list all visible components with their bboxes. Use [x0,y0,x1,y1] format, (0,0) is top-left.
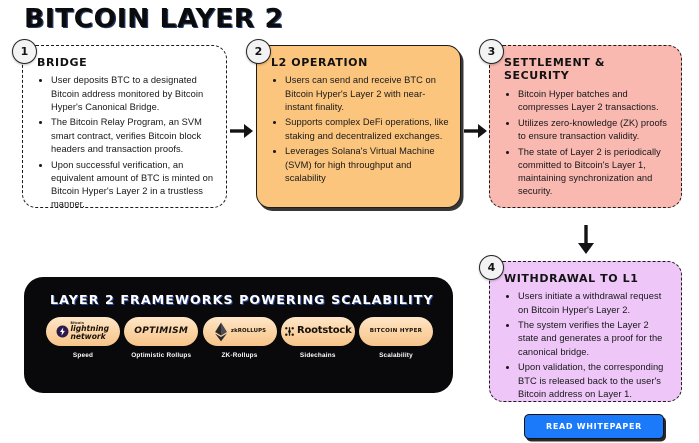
step-card-title: SETTLEMENT & SECURITY [504,56,671,83]
list-item: Upon validation, the corresponding BTC i… [518,361,671,401]
step-card-bridge: BRIDGE User deposits BTC to a designated… [22,45,227,208]
zksync-rollups-logo: zkROLLUPS [231,329,266,335]
step-card-settlement-security: SETTLEMENT & SECURITY Bitcoin Hyper batc… [489,45,682,208]
step-card-bullets: Bitcoin Hyper batches and compresses Lay… [502,88,671,199]
page-title: BITCOIN LAYER 2 [24,4,283,34]
step-card-bullets: User deposits BTC to a designated Bitcoi… [35,74,216,211]
step-badge-number: 4 [488,261,496,274]
framework-logo-pill: Bitcoin lightning network [46,317,120,346]
step-card-bullets: Users initiate a withdrawal request on B… [502,290,671,401]
step-card-title: BRIDGE [37,56,216,69]
list-item: Leverages Solana's Virtual Machine (SVM)… [285,145,450,185]
rootstock-logo: Rootstock [297,326,352,336]
framework-item-optimism[interactable]: OPTIMISM Optimistic Rollups [124,317,198,359]
list-item: Supports complex DeFi operations, like s… [285,116,450,142]
framework-item-zkrollups[interactable]: zkROLLUPS ZK-Rollups [203,317,277,359]
step-badge-3: 3 [479,39,504,64]
framework-caption: Scalability [379,352,413,359]
infographic-canvas: BITCOIN LAYER 2 BRIDGE User deposits BTC… [0,0,699,443]
framework-caption: Speed [73,352,93,359]
list-item: The Bitcoin Relay Program, an SVM smart … [51,116,216,156]
list-item: Utilizes zero-knowledge (ZK) proofs to e… [518,117,671,143]
framework-logo-text: lightning network [71,325,111,340]
ethereum-icon [213,322,229,342]
step-card-bullets: Users can send and receive BTC on Bitcoi… [269,74,450,185]
framework-item-lightning[interactable]: Bitcoin lightning network Speed [46,317,120,359]
list-item: Bitcoin Hyper batches and compresses Lay… [518,88,671,114]
rootstock-mark-icon [284,326,295,337]
step-card-title: WITHDRAWAL TO L1 [504,272,671,285]
step-badge-number: 2 [255,45,263,58]
frameworks-panel: LAYER 2 FRAMEWORKS POWERING SCALABILITY … [24,277,453,393]
bitcoin-hyper-logo: BITCOIN HYPER [370,329,423,335]
list-item: Upon successful verification, an equival… [51,159,216,212]
arrow-step1-to-step2 [229,119,255,148]
framework-item-bitcoin-hyper[interactable]: BITCOIN HYPER Scalability [359,317,433,359]
read-whitepaper-label: READ WHITEPAPER [546,422,642,431]
framework-logo-pill: Rootstock [281,317,355,346]
framework-caption: ZK-Rollups [221,352,257,359]
framework-logo-pill: BITCOIN HYPER [359,317,433,346]
read-whitepaper-button[interactable]: READ WHITEPAPER [524,414,664,439]
step-badge-1: 1 [12,39,37,64]
frameworks-panel-title: LAYER 2 FRAMEWORKS POWERING SCALABILITY [50,292,441,307]
list-item: The system verifies the Layer 2 state an… [518,319,671,359]
optimism-logo: OPTIMISM [134,327,188,336]
list-item: Users can send and receive BTC on Bitcoi… [285,74,450,114]
step-card-l2-operation: L2 OPERATION Users can send and receive … [256,45,461,208]
step-badge-number: 3 [488,45,496,58]
step-card-withdrawal-to-l1: WITHDRAWAL TO L1 Users initiate a withdr… [489,261,682,402]
step-badge-2: 2 [246,39,271,64]
arrow-step3-to-step4 [574,224,598,261]
list-item: User deposits BTC to a designated Bitcoi… [51,74,216,114]
arrow-step2-to-step3 [463,119,489,148]
framework-caption: Sidechains [300,352,336,359]
frameworks-list: Bitcoin lightning network Speed OPTIMISM… [46,317,433,359]
framework-item-rootstock[interactable]: Rootstock Sidechains [281,317,355,359]
list-item: The state of Layer 2 is periodically com… [518,146,671,199]
step-badge-number: 1 [21,45,29,58]
list-item: Users initiate a withdrawal request on B… [518,290,671,316]
framework-logo-pill: zkROLLUPS [203,317,277,346]
lightning-network-logo [56,325,69,338]
framework-caption: Optimistic Rollups [131,352,191,359]
step-card-title: L2 OPERATION [271,56,450,69]
step-badge-4: 4 [479,255,504,280]
framework-logo-pill: OPTIMISM [124,317,198,346]
